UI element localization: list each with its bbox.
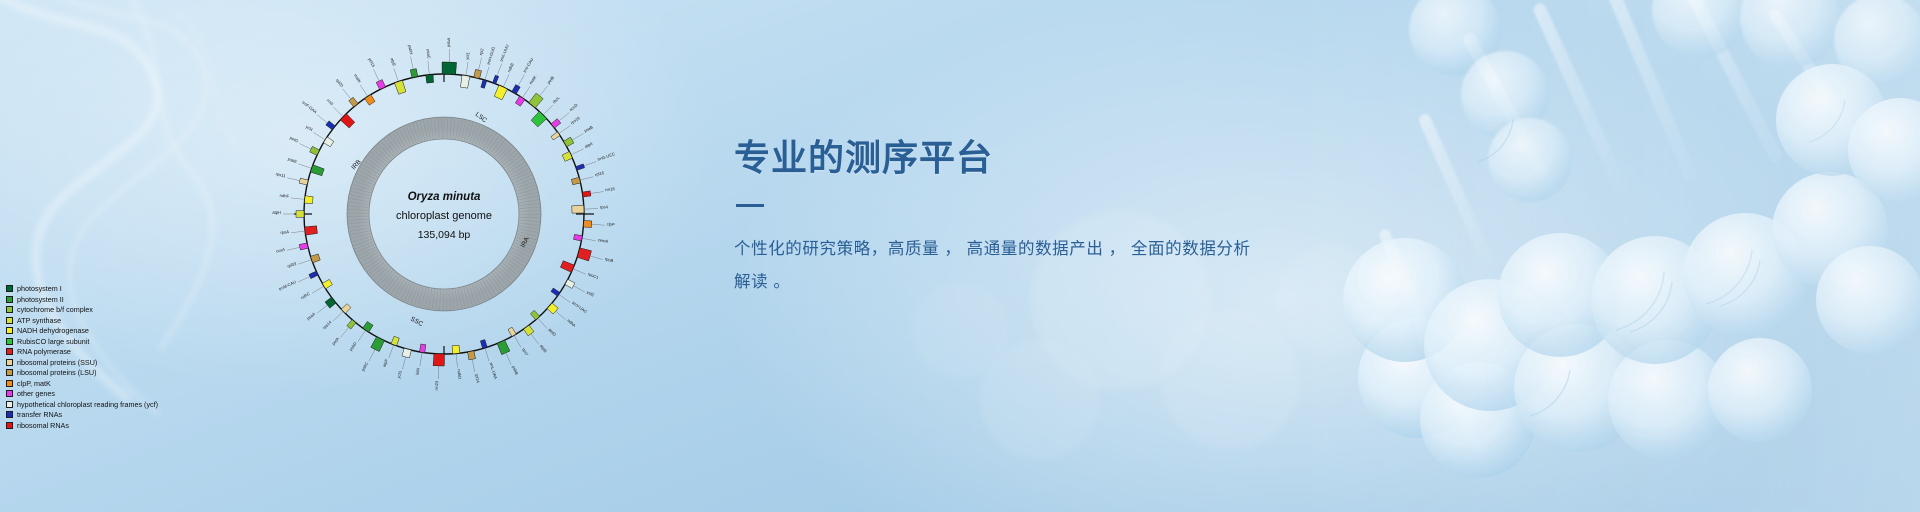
legend-item: hypothetical chloroplast reading frames … bbox=[6, 399, 266, 409]
gene-feature-box bbox=[410, 69, 418, 78]
gene-label: ycf1 bbox=[464, 51, 470, 60]
gene-feature-box bbox=[433, 354, 444, 366]
gene-feature-box bbox=[305, 226, 318, 235]
title-divider bbox=[736, 204, 764, 207]
gene-label: psbA bbox=[446, 37, 451, 47]
dna-helix-decoration bbox=[1300, 0, 1920, 512]
gene-feature-box bbox=[547, 303, 558, 314]
gene-feature-box bbox=[577, 248, 591, 261]
gene-leader-line bbox=[343, 89, 351, 99]
gene-feature-box bbox=[296, 211, 304, 218]
gene-leader-line bbox=[506, 353, 511, 365]
gene-label: rpoB bbox=[604, 256, 614, 263]
gene-leader-line bbox=[333, 312, 342, 321]
gene-label: rpoA bbox=[280, 229, 289, 235]
gene-label: ccsA bbox=[276, 247, 286, 254]
gene-leader-line bbox=[389, 346, 394, 358]
gene-label: ndhB bbox=[506, 62, 515, 73]
gene-feature-box bbox=[452, 345, 460, 354]
gene-leader-line bbox=[572, 149, 584, 154]
gene-leader-line bbox=[592, 224, 605, 225]
gene-feature-box bbox=[299, 243, 308, 250]
gene-feature-box bbox=[322, 279, 332, 288]
legend-item-label: transfer RNAs bbox=[17, 410, 62, 419]
legend-item-label: ribosomal RNAs bbox=[17, 421, 69, 430]
gene-leader-line bbox=[291, 198, 304, 199]
gene-leader-line bbox=[373, 69, 379, 81]
gene-feature-box bbox=[402, 348, 411, 358]
gene-leader-line bbox=[466, 62, 468, 75]
gene-leader-line bbox=[411, 57, 414, 70]
legend-item: other genes bbox=[6, 389, 266, 399]
genome-map-svg: LSC IRA SSC IRB psbAycf1rpl2trnH-GUGtrnK… bbox=[232, 2, 656, 426]
gene-leader-line bbox=[538, 319, 547, 329]
gene-leader-line bbox=[544, 105, 553, 114]
gene-leader-line bbox=[317, 115, 327, 123]
gene-label: psaB bbox=[583, 124, 594, 133]
gene-label: psbE bbox=[287, 156, 298, 164]
gene-feature-box bbox=[551, 132, 560, 140]
gene-label: rpl33 bbox=[287, 261, 298, 269]
gene-label: matK bbox=[353, 73, 363, 84]
region-label-ssc: SSC bbox=[409, 316, 424, 329]
gene-label: atpA bbox=[584, 141, 594, 149]
gene-leader-line bbox=[420, 353, 422, 366]
gene-leader-line bbox=[523, 86, 530, 97]
gene-leader-line bbox=[341, 327, 349, 337]
gene-label: ndhC bbox=[300, 291, 311, 300]
gene-label: trnK-UUU bbox=[499, 44, 510, 62]
gene-leader-line bbox=[472, 359, 474, 372]
gene-feature-box bbox=[493, 75, 499, 84]
gene-leader-line bbox=[590, 256, 603, 260]
gene-label: atpH bbox=[272, 210, 281, 215]
gene-label: ndhF bbox=[279, 193, 289, 199]
gene-label: cemA bbox=[597, 237, 608, 244]
gene-label: psbH bbox=[407, 44, 414, 54]
gene-leader-line bbox=[317, 305, 327, 313]
gene-feature-box bbox=[576, 164, 585, 170]
gene-leader-line bbox=[428, 61, 429, 74]
gene-feature-box bbox=[560, 261, 574, 273]
genome-organism-name: Oryza minuta bbox=[408, 191, 481, 203]
legend-item-label: NADH dehydrogenase bbox=[17, 326, 89, 335]
gene-feature-box bbox=[572, 205, 584, 213]
banner-root: LSC IRA SSC IRB psbAycf1rpl2trnH-GUGtrnK… bbox=[0, 0, 1920, 512]
gene-leader-line bbox=[333, 107, 342, 116]
gene-leader-line bbox=[298, 260, 310, 264]
legend-color-swatch bbox=[6, 338, 13, 345]
legend-item-label: other genes bbox=[17, 389, 55, 398]
legend-color-swatch bbox=[6, 401, 13, 408]
gene-feature-box bbox=[442, 62, 457, 74]
gene-feature-box bbox=[341, 304, 351, 314]
gene-leader-line bbox=[394, 68, 398, 80]
gene-label: rpl2 bbox=[478, 47, 485, 56]
gene-leader-line bbox=[287, 247, 300, 250]
gene-label: psaC bbox=[426, 49, 432, 59]
gene-label: ycf4 bbox=[305, 124, 315, 133]
gene-label: petA bbox=[331, 336, 340, 346]
gene-leader-line bbox=[591, 192, 604, 194]
gene-leader-line bbox=[572, 134, 583, 141]
legend-color-swatch bbox=[6, 285, 13, 292]
legend-item: RNA polymerase bbox=[6, 347, 266, 357]
gene-label: rrn23 bbox=[434, 380, 439, 390]
gene-feature-box bbox=[571, 177, 580, 184]
gene-label: trnM-CAU bbox=[278, 279, 297, 291]
gene-label: rrn5 bbox=[326, 98, 335, 107]
legend-color-swatch bbox=[6, 306, 13, 313]
gene-label: psbD bbox=[348, 341, 358, 352]
gene-feature-box bbox=[391, 336, 399, 346]
gene-label: trnH-GUG bbox=[486, 46, 496, 65]
legend-item-label: ATP synthase bbox=[17, 316, 61, 325]
gene-leader-line bbox=[560, 295, 571, 302]
gene-label: ycf15 bbox=[367, 57, 376, 69]
chloroplast-genome-map: LSC IRA SSC IRB psbAycf1rpl2trnH-GUGtrnK… bbox=[232, 2, 656, 426]
gene-leader-line bbox=[402, 357, 405, 370]
legend-color-swatch bbox=[6, 327, 13, 334]
gene-leader-line bbox=[456, 354, 457, 367]
legend-color-swatch bbox=[6, 422, 13, 429]
legend-color-swatch bbox=[6, 348, 13, 355]
gene-label: rbcL bbox=[551, 95, 561, 105]
gene-feature-box bbox=[562, 152, 572, 162]
genome-size-label: 135,094 bp bbox=[418, 229, 471, 241]
gene-leader-line bbox=[531, 334, 539, 345]
gene-leader-line bbox=[312, 287, 323, 294]
gene-leader-line bbox=[360, 85, 367, 96]
gene-feature-box bbox=[529, 93, 543, 108]
gene-leader-line bbox=[581, 177, 594, 180]
legend-item: transfer RNAs bbox=[6, 410, 266, 420]
gene-label: rps16 bbox=[569, 115, 581, 125]
gene-leader-line bbox=[573, 286, 584, 292]
legend-color-swatch bbox=[6, 380, 13, 387]
genome-type-label: chloroplast genome bbox=[396, 210, 492, 222]
gene-label: ycf3 bbox=[396, 370, 403, 379]
gene-label: matK bbox=[528, 74, 538, 85]
gene-feature-box bbox=[515, 96, 525, 106]
gene-label: petG bbox=[289, 135, 299, 143]
legend-item: RubisCO large subunit bbox=[6, 336, 266, 346]
legend-item: ATP synthase bbox=[6, 315, 266, 325]
legend-color-swatch bbox=[6, 411, 13, 418]
gene-label: rrn16 bbox=[605, 186, 616, 192]
legend-item-label: ribosomal proteins (SSU) bbox=[17, 358, 97, 367]
gene-feature-box bbox=[583, 221, 591, 228]
gene-leader-line bbox=[291, 231, 304, 233]
gene-leader-line bbox=[485, 67, 489, 79]
gene-leader-line bbox=[369, 349, 375, 361]
gene-label: rpoC1 bbox=[587, 271, 600, 280]
gene-feature-box bbox=[419, 344, 425, 353]
gene-leader-line bbox=[497, 64, 502, 76]
gene-feature-box bbox=[310, 165, 324, 176]
gene-feature-box bbox=[564, 137, 574, 147]
gene-leader-line bbox=[574, 269, 586, 274]
gene-leader-line bbox=[560, 126, 571, 133]
page-subtitle: 个性化的研究策略，高质量 ， 高通量的数据产出 ， 全面的数据分析解读 。 bbox=[734, 233, 1264, 299]
legend-item: NADH dehydrogenase bbox=[6, 326, 266, 336]
gene-feature-box bbox=[363, 321, 373, 332]
gene-label: rps14 bbox=[322, 319, 333, 330]
gene-leader-line bbox=[485, 349, 489, 361]
page-title: 专业的测序平台 bbox=[734, 138, 1374, 178]
gene-leader-line bbox=[556, 311, 566, 320]
gene-feature-box bbox=[299, 178, 308, 185]
gene-feature-box bbox=[426, 74, 434, 83]
legend-color-swatch bbox=[6, 369, 13, 376]
gene-leader-line bbox=[287, 178, 300, 181]
gene-label: trnI-CAU bbox=[522, 57, 534, 73]
marketing-copy: 专业的测序平台 个性化的研究策略，高质量 ， 高通量的数据产出 ， 全面的数据分… bbox=[734, 138, 1374, 299]
gene-feature-box bbox=[460, 75, 469, 88]
legend-item: ribosomal RNAs bbox=[6, 420, 266, 430]
gene-label: rps11 bbox=[275, 171, 287, 178]
legend-item-label: photosystem I bbox=[17, 284, 62, 293]
gene-leader-line bbox=[313, 132, 324, 139]
gene-label: infA bbox=[415, 367, 421, 375]
gene-feature-box bbox=[524, 325, 534, 336]
legend-item: photosystem I bbox=[6, 284, 266, 294]
gene-label: trnG-UCC bbox=[597, 151, 616, 162]
gene-label: atpE bbox=[390, 57, 398, 67]
gene-label: trnV-UAC bbox=[571, 300, 588, 314]
gene-feature-box bbox=[309, 271, 318, 278]
gene-leader-line bbox=[540, 86, 548, 96]
gene-leader-line bbox=[358, 331, 365, 342]
gene-label: ndhA bbox=[566, 318, 577, 328]
gene-feature-box bbox=[474, 69, 482, 78]
gene-label: trnF-GAA bbox=[301, 100, 318, 115]
gene-feature-box bbox=[365, 95, 375, 106]
gene-label: ndhD bbox=[457, 369, 463, 379]
gene-leader-line bbox=[515, 336, 522, 347]
legend-item-label: RNA polymerase bbox=[17, 347, 71, 356]
gene-label: petB bbox=[546, 75, 555, 85]
gene-label: atpB bbox=[539, 344, 548, 354]
gene-leader-line bbox=[583, 238, 596, 240]
gene-feature-box bbox=[324, 137, 334, 147]
legend-item-label: photosystem II bbox=[17, 295, 64, 304]
gene-feature-box bbox=[468, 351, 476, 360]
gene-label: trnL-UAA bbox=[489, 362, 499, 380]
gene-label: clpP bbox=[607, 221, 616, 227]
legend-item: photosystem II bbox=[6, 294, 266, 304]
gene-leader-line bbox=[559, 113, 569, 121]
gene-label: rps7 bbox=[521, 347, 530, 357]
gene-leader-line bbox=[584, 162, 596, 166]
legend-item-label: hypothetical chloroplast reading frames … bbox=[17, 400, 158, 409]
legend-item-label: clpP, matK bbox=[17, 379, 51, 388]
gene-label: rpl20 bbox=[335, 78, 345, 89]
legend-color-swatch bbox=[6, 296, 13, 303]
gene-label: rpl14 bbox=[474, 373, 481, 384]
gene-feature-box bbox=[304, 196, 313, 204]
gene-leader-line bbox=[299, 143, 311, 149]
legend-item-label: RubisCO large subunit bbox=[17, 337, 89, 346]
gene-leader-line bbox=[298, 277, 310, 282]
legend-color-swatch bbox=[6, 317, 13, 324]
gene-label: petD bbox=[548, 327, 558, 337]
genome-legend: photosystem Iphotosystem IIcytochrome b/… bbox=[6, 284, 266, 431]
gene-label: psbB bbox=[511, 365, 519, 376]
legend-item: clpP, matK bbox=[6, 378, 266, 388]
gene-feature-box bbox=[551, 288, 560, 296]
legend-color-swatch bbox=[6, 390, 13, 397]
gene-feature-box bbox=[325, 297, 336, 308]
gene-feature-box bbox=[574, 234, 583, 241]
gene-leader-line bbox=[518, 75, 525, 86]
gene-label: rps4 bbox=[600, 204, 609, 209]
legend-item: ribosomal proteins (SSU) bbox=[6, 357, 266, 367]
gene-label: accD bbox=[568, 102, 578, 112]
gene-label: atpF bbox=[381, 358, 389, 368]
gene-feature-box bbox=[480, 340, 487, 349]
legend-item: cytochrome b/f complex bbox=[6, 305, 266, 315]
gene-leader-line bbox=[479, 57, 482, 70]
gene-feature-box bbox=[395, 80, 406, 94]
gene-feature-box bbox=[481, 80, 487, 89]
gene-leader-line bbox=[298, 164, 310, 168]
legend-item: ribosomal proteins (LSU) bbox=[6, 368, 266, 378]
gene-leader-line bbox=[504, 74, 509, 86]
gene-feature-box bbox=[582, 191, 591, 197]
legend-item-label: cytochrome b/f complex bbox=[17, 305, 93, 314]
gene-label: ycf2 bbox=[586, 290, 596, 298]
gene-label: psaA bbox=[306, 311, 317, 321]
legend-item-label: ribosomal proteins (LSU) bbox=[17, 368, 97, 377]
gene-label: rpl16 bbox=[594, 170, 605, 177]
gene-feature-box bbox=[371, 337, 385, 352]
legend-color-swatch bbox=[6, 359, 13, 366]
gene-label: psbC bbox=[360, 361, 369, 372]
